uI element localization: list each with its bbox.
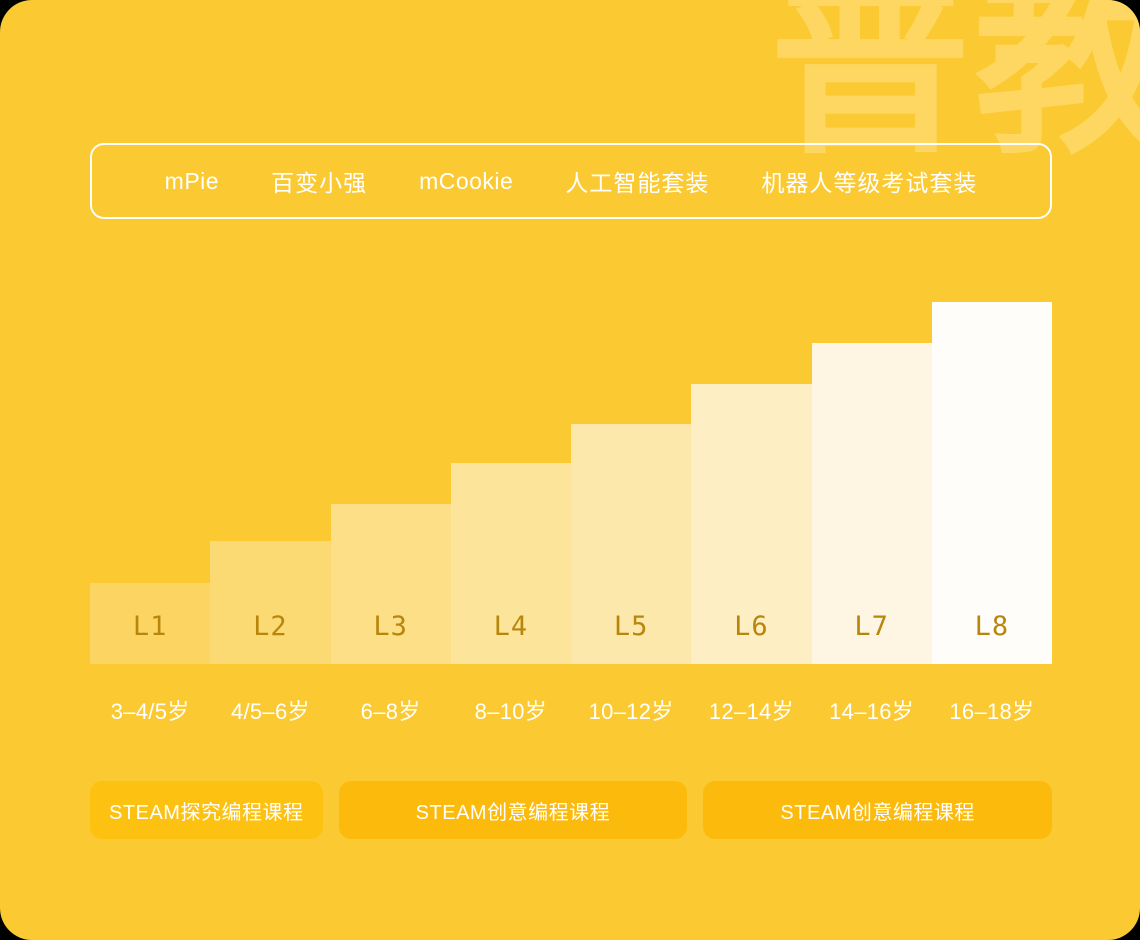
bar-l8[interactable]: L8 — [932, 302, 1052, 664]
bar-l1[interactable]: L1 — [90, 583, 210, 664]
bar-l7[interactable]: L7 — [812, 343, 932, 664]
tab-5[interactable]: 机器人等级考试套装 — [735, 164, 1003, 198]
age-range-3: 6–8岁 — [331, 694, 451, 726]
watermark-text: 普教 — [770, 0, 1140, 166]
level-bar-chart: L1L2L3L4L5L6L7L8 — [90, 282, 1052, 664]
bar-l5[interactable]: L5 — [571, 424, 691, 664]
bar-label-l7: L7 — [854, 611, 889, 664]
age-range-7: 14–16岁 — [812, 694, 932, 726]
bar-label-l1: L1 — [133, 611, 168, 664]
tab-2[interactable]: 百变小强 — [245, 164, 393, 198]
course-button-3[interactable]: STEAM创意编程课程 — [703, 781, 1052, 839]
age-range-5: 10–12岁 — [571, 694, 691, 726]
course-button-1[interactable]: STEAM探究编程课程 — [90, 781, 323, 839]
course-button-row: STEAM探究编程课程STEAM创意编程课程STEAM创意编程课程 — [90, 781, 1052, 839]
bar-l3[interactable]: L3 — [331, 504, 451, 664]
tab-3[interactable]: mCookie — [393, 168, 539, 195]
age-range-4: 8–10岁 — [451, 694, 571, 726]
bar-label-l4: L4 — [494, 611, 529, 664]
tab-4[interactable]: 人工智能套装 — [539, 164, 735, 198]
age-range-row: 3–4/5岁4/5–6岁6–8岁8–10岁10–12岁12–14岁14–16岁1… — [90, 694, 1052, 726]
age-range-2: 4/5–6岁 — [210, 694, 330, 726]
bar-l6[interactable]: L6 — [691, 384, 811, 664]
tab-1[interactable]: mPie — [139, 168, 245, 195]
age-range-6: 12–14岁 — [691, 694, 811, 726]
age-range-8: 16–18岁 — [932, 694, 1052, 726]
bar-label-l8: L8 — [975, 611, 1010, 664]
product-tab-bar: mPie百变小强mCookie人工智能套装机器人等级考试套装 — [90, 143, 1052, 219]
bar-label-l5: L5 — [614, 611, 649, 664]
bar-label-l3: L3 — [373, 611, 408, 664]
bar-label-l6: L6 — [734, 611, 769, 664]
bar-l2[interactable]: L2 — [210, 541, 330, 664]
bar-label-l2: L2 — [253, 611, 288, 664]
course-button-2[interactable]: STEAM创意编程课程 — [339, 781, 688, 839]
bar-l4[interactable]: L4 — [451, 463, 571, 664]
age-range-1: 3–4/5岁 — [90, 694, 210, 726]
course-level-card: 普教 mPie百变小强mCookie人工智能套装机器人等级考试套装 L1L2L3… — [0, 0, 1140, 940]
